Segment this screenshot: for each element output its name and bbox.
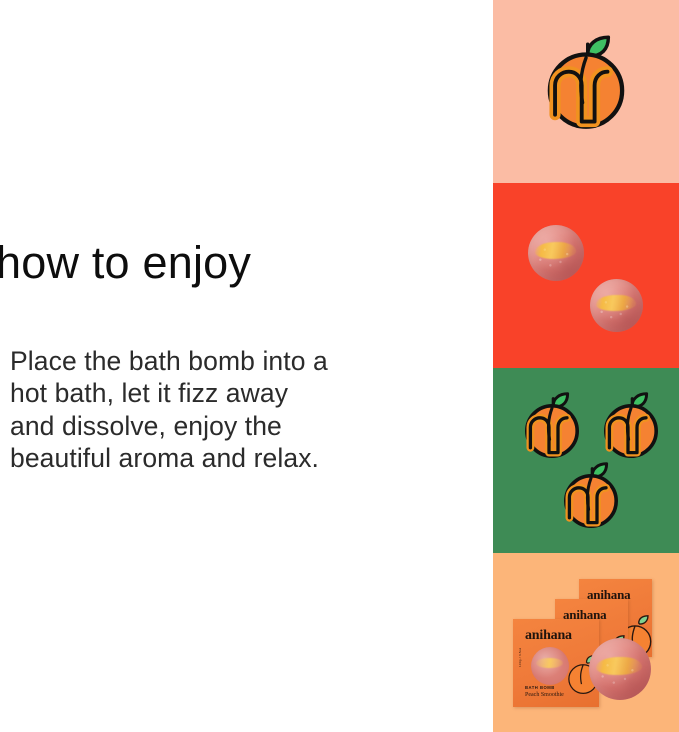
text-panel: how to enjoy Place the bath bomb into a …	[0, 0, 493, 732]
product-category: BATH BOMB	[525, 685, 555, 690]
instructions-line-1: Place the bath bomb into a	[10, 345, 430, 377]
peach-drip-icon	[601, 390, 661, 460]
instructions-line-2: hot bath, let it fizz away	[10, 377, 430, 409]
peach-drip-icon	[543, 32, 629, 132]
bath-bomb-sphere	[590, 279, 643, 332]
instructions-line-3: and dissolve, enjoy the	[10, 410, 430, 442]
peach-drip-icon	[561, 460, 621, 530]
peach-logo-panel	[493, 0, 679, 183]
image-strip: anihana anihana anihana	[493, 0, 679, 732]
brand-name: anihana	[525, 628, 572, 644]
bath-bomb-sphere	[528, 225, 584, 281]
peach-drip-icon	[522, 390, 582, 460]
bath-bomb-sphere	[589, 638, 651, 700]
product-box-front: anihana 100g / 3.5oz BATH BOMB Peach Smo…	[513, 619, 599, 707]
product-flavour: Peach Smoothie	[525, 692, 564, 698]
peach-trio-panel	[493, 368, 679, 553]
page-title: how to enjoy	[0, 236, 251, 290]
bath-bomb-speckle	[590, 279, 643, 332]
bath-bomb-speckle	[589, 638, 651, 700]
bath-bomb-speckle	[528, 225, 584, 281]
packaging-panel: anihana anihana anihana	[493, 553, 679, 732]
net-weight-label: 100g / 3.5oz	[518, 648, 522, 667]
instructions-paragraph: Place the bath bomb into a hot bath, let…	[10, 345, 430, 475]
instructions-line-4: beautiful aroma and relax.	[10, 442, 430, 474]
bath-bomb-swirl	[536, 658, 563, 669]
bath-bombs-panel	[493, 183, 679, 368]
